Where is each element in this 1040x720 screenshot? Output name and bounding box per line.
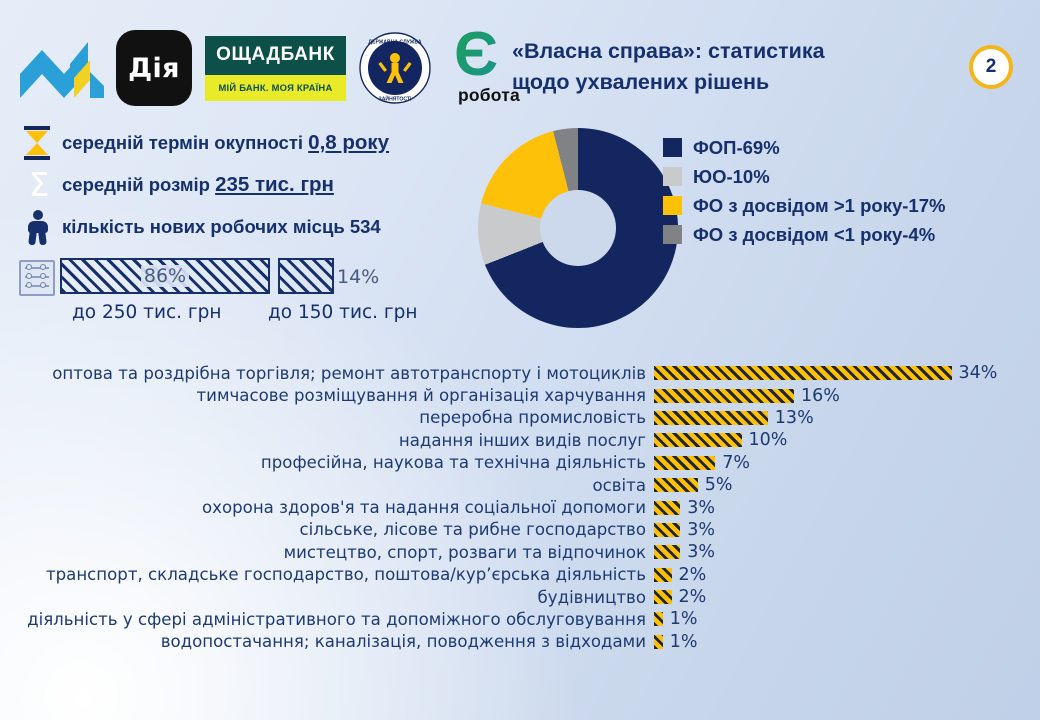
bar-value-label: 34%	[952, 363, 998, 383]
page-title-line1: «Власна справа»: статистика	[512, 36, 932, 67]
donut-center-hole	[540, 190, 616, 266]
bar-value-label: 13%	[768, 408, 814, 428]
page-number-badge: 2	[969, 45, 1013, 89]
bar-segment	[654, 568, 672, 582]
legend-label: ФО з досвідом <1 року-4%	[693, 224, 935, 246]
stat-new-jobs-label: кількість нових робочих місць	[62, 216, 345, 237]
legend-item: ФО з досвідом >1 року-17%	[663, 191, 945, 220]
bar-chart-row: освіта5%	[0, 474, 1040, 496]
loan-bar-150k	[278, 258, 334, 294]
abacus-icon	[19, 260, 55, 296]
stat-average-size-label: середній розмір	[62, 174, 210, 195]
logo-strip: Дія ОЩАДБАНК МІЙ БАНК. МОЯ КРАЇНА ДЕРЖАВ…	[12, 24, 536, 112]
bar-category-label: сільське, лісове та рибне господарство	[0, 520, 654, 539]
bar-segment	[654, 478, 698, 492]
oschadbank-slogan: МІЙ БАНК. МОЯ КРАЇНА	[205, 75, 346, 101]
bar-category-label: переробна промисловість	[0, 408, 654, 427]
state-employment-service-logo: ДЕРЖАВНА СЛУЖБА ЗАЙНЯТОСТІ	[358, 31, 432, 105]
page-title: «Власна справа»: статистика щодо ухвален…	[512, 36, 932, 97]
bar-segment	[654, 523, 680, 537]
legend-swatch-icon	[663, 167, 682, 186]
bar-value-label: 3%	[680, 498, 715, 518]
sigma-icon: Σ	[14, 164, 62, 206]
bar-category-label: тимчасове розміщування й організація хар…	[0, 386, 654, 405]
legend-item: ЮО-10%	[663, 162, 945, 191]
svg-text:Є: Є	[454, 28, 498, 86]
bar-value-label: 5%	[698, 475, 733, 495]
oschadbank-name: ОЩАДБАНК	[205, 36, 346, 75]
page-title-line2: щодо ухвалених рішень	[512, 67, 932, 98]
loan-bar-250k-value: 86%	[141, 265, 189, 287]
bar-value-label: 1%	[663, 609, 698, 629]
ministry-of-economy-logo	[12, 28, 112, 108]
bar-value-label: 3%	[680, 542, 715, 562]
loan-bar-250k: 86%	[60, 258, 270, 294]
bar-chart-row: водопостачання; каналізація, поводження …	[0, 631, 1040, 653]
bar-chart-row: діяльність у сфері адміністративного та …	[0, 608, 1040, 630]
legend-swatch-icon	[663, 138, 682, 157]
bar-value-label: 2%	[672, 587, 707, 607]
loan-bar-150k-label: до 150 тис. грн	[268, 302, 417, 323]
bar-segment	[654, 501, 680, 515]
loan-bar-150k-value: 14%	[337, 266, 379, 288]
bar-segment	[654, 366, 952, 380]
bar-category-label: охорона здоров'я та надання соціальної д…	[0, 498, 654, 517]
bar-value-label: 3%	[680, 520, 715, 540]
bar-category-label: професійна, наукова та технічна діяльніс…	[0, 453, 654, 472]
svg-text:ЗАЙНЯТОСТІ: ЗАЙНЯТОСТІ	[379, 95, 412, 103]
diia-logo: Дія	[116, 30, 192, 106]
bar-chart-row: мистецтво, спорт, розваги та відпочинок3…	[0, 541, 1040, 563]
slide-canvas: Дія ОЩАДБАНК МІЙ БАНК. МОЯ КРАЇНА ДЕРЖАВ…	[0, 0, 1040, 720]
legend-label: ФО з досвідом >1 року-17%	[693, 195, 945, 217]
legend-swatch-icon	[663, 225, 682, 244]
bar-category-label: діяльність у сфері адміністративного та …	[0, 610, 654, 629]
key-stats-list: середній термін окупності 0,8 року Σ сер…	[14, 122, 484, 248]
bar-chart-row: тимчасове розміщування й організація хар…	[0, 384, 1040, 406]
bar-segment	[654, 456, 715, 470]
bar-category-label: мистецтво, спорт, розваги та відпочинок	[0, 543, 654, 562]
legend-item: ФО з досвідом <1 року-4%	[663, 220, 945, 249]
svg-text:ДЕРЖАВНА СЛУЖБА: ДЕРЖАВНА СЛУЖБА	[368, 39, 421, 45]
stat-payback-text: середній термін окупності 0,8 року	[62, 131, 389, 155]
bar-value-label: 16%	[794, 386, 840, 406]
bar-chart-row: сільське, лісове та рибне господарство3%	[0, 519, 1040, 541]
legend-swatch-icon	[663, 196, 682, 215]
bar-segment	[654, 590, 672, 604]
bar-chart-row: охорона здоров'я та надання соціальної д…	[0, 496, 1040, 518]
bar-value-label: 7%	[715, 453, 750, 473]
bar-chart-row: надання інших видів послуг10%	[0, 429, 1040, 451]
hourglass-icon	[14, 122, 62, 164]
legend-label: ЮО-10%	[693, 166, 770, 188]
bar-chart-row: будівництво2%	[0, 586, 1040, 608]
bar-segment	[654, 635, 663, 649]
bar-chart-row: оптова та роздрібна торгівля; ремонт авт…	[0, 362, 1040, 384]
stat-payback-value: 0,8 року	[308, 131, 389, 154]
bar-segment	[654, 389, 794, 403]
stat-row-payback-period: середній термін окупності 0,8 року	[14, 122, 484, 164]
bar-category-label: надання інших видів послуг	[0, 431, 654, 450]
bar-chart-row: транспорт, складське господарство, пошто…	[0, 564, 1040, 586]
stat-average-size-text: середній розмір 235 тис. грн	[62, 173, 334, 197]
bar-segment	[654, 411, 768, 425]
bar-category-label: освіта	[0, 476, 654, 495]
bar-value-label: 10%	[742, 430, 788, 450]
stat-new-jobs-value: 534	[350, 216, 381, 237]
oschadbank-logo: ОЩАДБАНК МІЙ БАНК. МОЯ КРАЇНА	[205, 36, 346, 101]
stat-new-jobs-text: кількість нових робочих місць 534	[62, 216, 381, 238]
applicant-type-donut-chart	[478, 128, 678, 328]
bar-category-label: будівництво	[0, 588, 654, 607]
legend-label: ФОП-69%	[693, 137, 780, 159]
donut-legend: ФОП-69%ЮО-10%ФО з досвідом >1 року-17%ФО…	[663, 133, 945, 249]
stat-row-new-jobs: кількість нових робочих місць 534	[14, 206, 484, 248]
bar-category-label: водопостачання; каналізація, поводження …	[0, 632, 654, 651]
bar-value-label: 1%	[663, 632, 698, 652]
stat-average-size-value: 235 тис. грн	[215, 173, 334, 196]
bar-segment	[654, 433, 742, 447]
bar-value-label: 2%	[672, 565, 707, 585]
stat-payback-label: середній термін окупності	[62, 132, 303, 153]
loan-bar-250k-label: до 250 тис. грн	[72, 302, 221, 323]
bar-chart-row: переробна промисловість13%	[0, 407, 1040, 429]
bar-category-label: транспорт, складське господарство, пошто…	[0, 565, 654, 584]
diia-logo-text: Дія	[128, 53, 180, 84]
bar-chart-row: професійна, наукова та технічна діяльніс…	[0, 452, 1040, 474]
industry-distribution-bar-chart: оптова та роздрібна торгівля; ремонт авт…	[0, 362, 1040, 653]
bar-segment	[654, 612, 663, 626]
legend-item: ФОП-69%	[663, 133, 945, 162]
bar-segment	[654, 545, 680, 559]
stat-row-average-size: Σ середній розмір 235 тис. грн	[14, 164, 484, 206]
person-icon	[14, 206, 62, 248]
bar-category-label: оптова та роздрібна торгівля; ремонт авт…	[0, 364, 654, 383]
